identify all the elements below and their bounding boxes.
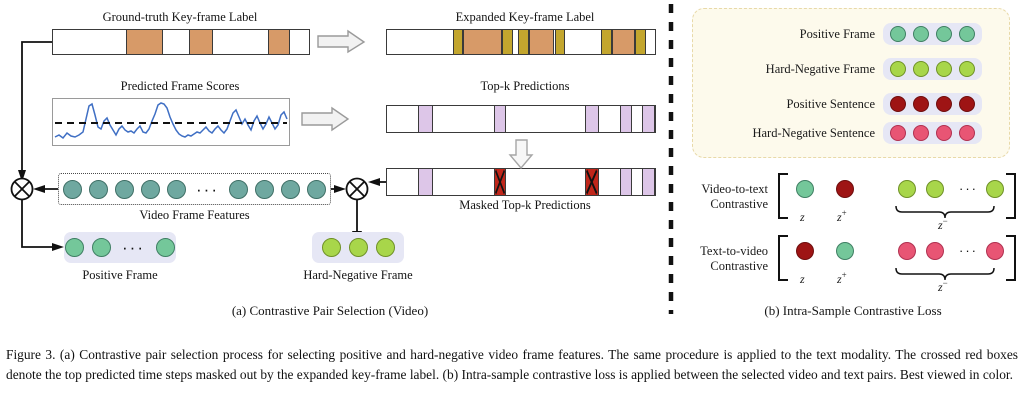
legend-dot bbox=[890, 125, 906, 141]
bracket-pair bbox=[776, 172, 1020, 228]
legend-dot bbox=[959, 61, 975, 77]
legend-dot bbox=[936, 26, 952, 42]
video-frame-feature-dot bbox=[89, 180, 108, 199]
positive-frame-chips: ··· bbox=[65, 238, 175, 257]
legend-label: Positive Sentence bbox=[699, 97, 875, 112]
ellipsis: ··· bbox=[119, 239, 148, 256]
legend-dot bbox=[913, 96, 929, 112]
multiply-node-left bbox=[12, 179, 33, 200]
legend-row: Hard-Negative Frame bbox=[699, 58, 999, 80]
contrastive-row-label: Text-to-videoContrastive bbox=[676, 244, 768, 274]
legend-dot bbox=[913, 125, 929, 141]
contrastive-row: Text-to-videoContrastive···zz+z− bbox=[676, 234, 1020, 292]
video-frame-feature-dot bbox=[281, 180, 300, 199]
legend-row: Hard-Negative Sentence bbox=[699, 122, 999, 144]
legend-dot bbox=[936, 125, 952, 141]
negative-z-label: z− bbox=[938, 278, 948, 295]
positive-frame-dot bbox=[156, 238, 175, 257]
negative-z-label: z− bbox=[938, 216, 948, 233]
contrastive-row-label: Video-to-textContrastive bbox=[676, 182, 768, 212]
legend-rows: Positive FrameHard-Negative FramePositiv… bbox=[693, 9, 1009, 157]
legend-dot bbox=[936, 61, 952, 77]
negative-dot bbox=[986, 242, 1004, 260]
anchor-dot bbox=[796, 242, 814, 260]
negative-dot bbox=[926, 180, 944, 198]
video-frame-feature-dot bbox=[141, 180, 160, 199]
legend-label: Positive Frame bbox=[699, 27, 875, 42]
bracket-container bbox=[776, 172, 1020, 228]
hard-negative-frame-dot bbox=[349, 238, 368, 257]
hard-negative-frame-title: Hard-Negative Frame bbox=[290, 268, 426, 283]
video-frame-features-chips: ··· bbox=[63, 180, 326, 199]
video-frame-feature-dot bbox=[115, 180, 134, 199]
positive-z-label: z+ bbox=[837, 270, 847, 287]
positive-frame-box: ··· bbox=[64, 232, 176, 263]
negative-dot bbox=[986, 180, 1004, 198]
hard-negative-frame-dot bbox=[376, 238, 395, 257]
legend-dot bbox=[959, 125, 975, 141]
positive-frame-dot bbox=[92, 238, 111, 257]
anchor-z-label: z bbox=[800, 272, 805, 287]
contrastive-row-label-line1: Text-to-video bbox=[676, 244, 768, 259]
legend-chips bbox=[883, 58, 982, 80]
legend-dot bbox=[959, 26, 975, 42]
video-frame-features-title: Video Frame Features bbox=[58, 208, 331, 223]
negative-dot bbox=[898, 242, 916, 260]
ellipsis: ··· bbox=[956, 244, 981, 257]
arrow-gt-to-expanded bbox=[318, 31, 364, 52]
panel-b-caption: (b) Intra-Sample Contrastive Loss bbox=[690, 303, 1016, 319]
positive-dot bbox=[836, 180, 854, 198]
ellipsis: ··· bbox=[193, 181, 222, 198]
hard-negative-frame-dot bbox=[322, 238, 341, 257]
contrastive-rows: Video-to-textContrastive···zz+z−Text-to-… bbox=[676, 172, 1020, 292]
legend-dot bbox=[890, 61, 906, 77]
legend-row: Positive Sentence bbox=[699, 93, 999, 115]
legend-box: Positive FrameHard-Negative FramePositiv… bbox=[692, 8, 1010, 158]
bracket-pair bbox=[776, 234, 1020, 290]
contrastive-row-label-line1: Video-to-text bbox=[676, 182, 768, 197]
legend-dot bbox=[890, 26, 906, 42]
video-frame-feature-dot bbox=[229, 180, 248, 199]
video-frame-feature-dot bbox=[63, 180, 82, 199]
arrow-topk-to-masked bbox=[510, 140, 532, 168]
legend-dot bbox=[913, 61, 929, 77]
panel-a-caption: (a) Contrastive Pair Selection (Video) bbox=[80, 303, 580, 319]
video-frame-feature-dot bbox=[307, 180, 326, 199]
positive-frame-dot bbox=[65, 238, 84, 257]
contrastive-row-label-line2: Contrastive bbox=[676, 259, 768, 274]
figure-caption: Figure 3. (a) Contrastive pair selection… bbox=[6, 345, 1018, 384]
video-frame-feature-dot bbox=[167, 180, 186, 199]
legend-dot bbox=[913, 26, 929, 42]
contrastive-row-label-line2: Contrastive bbox=[676, 197, 768, 212]
arrow-scores-to-topk bbox=[302, 108, 348, 130]
legend-label: Hard-Negative Frame bbox=[699, 62, 875, 77]
anchor-dot bbox=[796, 180, 814, 198]
legend-chips bbox=[883, 122, 982, 144]
hard-negative-frame-chips bbox=[322, 238, 395, 257]
figure-root: Ground-truth Key-frame Label Predicted F… bbox=[0, 0, 1024, 417]
legend-chips bbox=[883, 23, 982, 45]
negative-dot bbox=[898, 180, 916, 198]
legend-chips bbox=[883, 93, 982, 115]
legend-dot bbox=[890, 96, 906, 112]
contrastive-row: Video-to-textContrastive···zz+z− bbox=[676, 172, 1020, 230]
positive-dot bbox=[836, 242, 854, 260]
ellipsis: ··· bbox=[956, 182, 981, 195]
hard-negative-frame-box bbox=[312, 232, 404, 263]
video-frame-features-box: ··· bbox=[58, 173, 331, 205]
legend-label: Hard-Negative Sentence bbox=[699, 126, 875, 141]
legend-dot bbox=[959, 96, 975, 112]
multiply-node-right bbox=[347, 179, 368, 200]
legend-row: Positive Frame bbox=[699, 23, 999, 45]
video-frame-feature-dot bbox=[255, 180, 274, 199]
bracket-container bbox=[776, 234, 1020, 290]
negative-dot bbox=[926, 242, 944, 260]
positive-frame-title: Positive Frame bbox=[56, 268, 184, 283]
anchor-z-label: z bbox=[800, 210, 805, 225]
legend-dot bbox=[936, 96, 952, 112]
positive-z-label: z+ bbox=[837, 208, 847, 225]
